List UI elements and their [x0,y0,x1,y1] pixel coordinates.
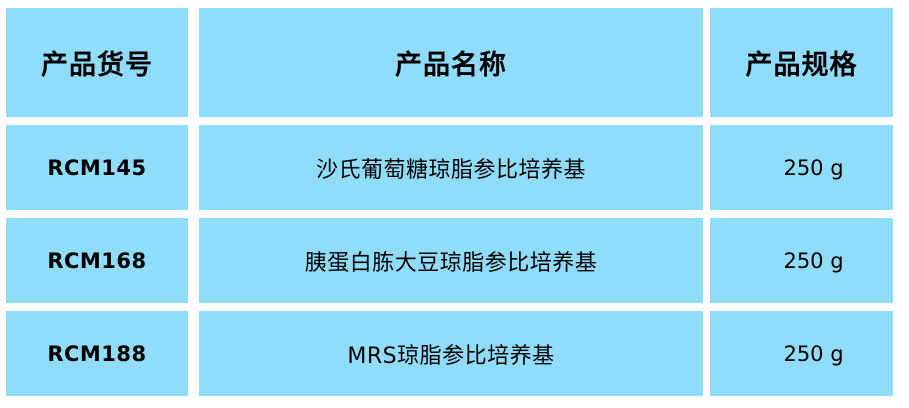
cell-product-spec: 250 g [710,311,893,396]
product-table: 产品货号 产品名称 产品规格 RCM145 沙氏葡萄糖琼脂参比培养基 250 g… [6,8,893,396]
cell-product-code: RCM145 [6,125,188,210]
column-header-product-code: 产品货号 [6,8,188,117]
table-row: RCM168 胰蛋白胨大豆琼脂参比培养基 250 g [6,218,893,303]
table-row: RCM188 MRS琼脂参比培养基 250 g [6,311,893,396]
cell-product-code: RCM168 [6,218,188,303]
cell-product-name: MRS琼脂参比培养基 [199,311,703,396]
cell-product-name: 胰蛋白胨大豆琼脂参比培养基 [199,218,703,303]
table-row: RCM145 沙氏葡萄糖琼脂参比培养基 250 g [6,125,893,210]
cell-product-code: RCM188 [6,311,188,396]
cell-product-name: 沙氏葡萄糖琼脂参比培养基 [199,125,703,210]
cell-product-spec: 250 g [710,125,893,210]
column-header-product-spec: 产品规格 [710,8,893,117]
table-header-row: 产品货号 产品名称 产品规格 [6,8,893,117]
cell-product-spec: 250 g [710,218,893,303]
column-header-product-name: 产品名称 [199,8,703,117]
